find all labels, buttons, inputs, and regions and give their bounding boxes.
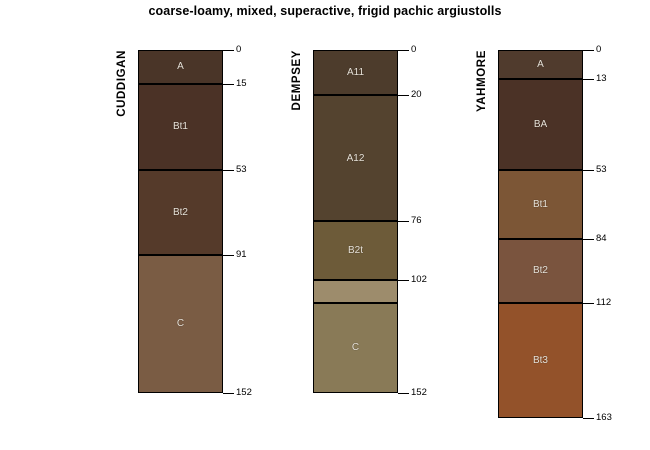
- soil-horizon-bt1[interactable]: Bt1: [138, 84, 223, 170]
- horizon-stack: ABABt1Bt2Bt3: [498, 50, 583, 418]
- soil-horizon-c[interactable]: C: [138, 255, 223, 393]
- depth-tick: [583, 418, 594, 419]
- horizon-label: B2t: [348, 245, 363, 256]
- depth-tick: [398, 95, 409, 96]
- depth-tick: [223, 84, 234, 85]
- horizon-stack: A11A12B2tC: [313, 50, 398, 393]
- depth-tick: [583, 79, 594, 80]
- depth-value: 53: [596, 165, 607, 175]
- depth-value: 0: [236, 45, 241, 55]
- soil-horizon-a[interactable]: A: [138, 50, 223, 84]
- depth-tick: [223, 170, 234, 171]
- soil-horizon[interactable]: [313, 280, 398, 303]
- profile-name-label: CUDDIGAN: [116, 50, 128, 117]
- soil-horizon-ba[interactable]: BA: [498, 79, 583, 169]
- horizon-label: BA: [534, 119, 547, 130]
- depth-value: 53: [236, 165, 247, 175]
- depth-value: 0: [596, 45, 601, 55]
- depth-tick: [223, 50, 234, 51]
- page-title: coarse-loamy, mixed, superactive, frigid…: [0, 4, 650, 18]
- depth-value: 0: [411, 45, 416, 55]
- depth-value: 152: [236, 388, 252, 398]
- depth-tick: [398, 393, 409, 394]
- profile-name-label: DEMPSEY: [291, 50, 303, 110]
- horizon-stack: ABt1Bt2C: [138, 50, 223, 393]
- depth-value: 112: [596, 298, 611, 308]
- depth-tick: [223, 255, 234, 256]
- depth-value: 163: [596, 413, 612, 423]
- horizon-label: Bt1: [173, 121, 188, 132]
- depth-tick: [583, 50, 594, 51]
- soil-horizon-b2t[interactable]: B2t: [313, 221, 398, 280]
- soil-horizon-bt3[interactable]: Bt3: [498, 303, 583, 418]
- soil-horizon-bt2[interactable]: Bt2: [498, 239, 583, 302]
- horizon-label: Bt2: [173, 207, 188, 218]
- profile-name-label: YAHMORE: [476, 50, 488, 112]
- soil-horizon-a12[interactable]: A12: [313, 95, 398, 221]
- depth-value: 76: [411, 216, 422, 226]
- depth-value: 84: [596, 234, 607, 244]
- soil-horizon-a[interactable]: A: [498, 50, 583, 79]
- horizon-label: Bt2: [533, 265, 548, 276]
- depth-tick: [398, 280, 409, 281]
- horizon-label: A: [537, 59, 544, 70]
- depth-value: 15: [236, 79, 247, 89]
- soil-horizon-bt2[interactable]: Bt2: [138, 170, 223, 256]
- horizon-label: Bt1: [533, 199, 548, 210]
- depth-value: 13: [596, 74, 607, 84]
- horizon-label: Bt3: [533, 355, 548, 366]
- horizon-label: A: [177, 61, 184, 72]
- horizon-label: A12: [347, 153, 365, 164]
- depth-tick: [583, 303, 594, 304]
- soil-profile-figure: coarse-loamy, mixed, superactive, frigid…: [0, 0, 650, 450]
- depth-tick: [583, 239, 594, 240]
- soil-horizon-bt1[interactable]: Bt1: [498, 170, 583, 240]
- depth-tick: [223, 393, 234, 394]
- depth-value: 20: [411, 90, 422, 100]
- soil-horizon-c[interactable]: C: [313, 303, 398, 393]
- horizon-label: C: [177, 318, 184, 329]
- depth-tick: [583, 170, 594, 171]
- depth-value: 102: [411, 275, 427, 285]
- horizon-label: C: [352, 342, 359, 353]
- soil-horizon-a11[interactable]: A11: [313, 50, 398, 95]
- depth-value: 91: [236, 250, 247, 260]
- horizon-label: A11: [347, 67, 364, 78]
- depth-tick: [398, 50, 409, 51]
- depth-tick: [398, 221, 409, 222]
- depth-value: 152: [411, 388, 427, 398]
